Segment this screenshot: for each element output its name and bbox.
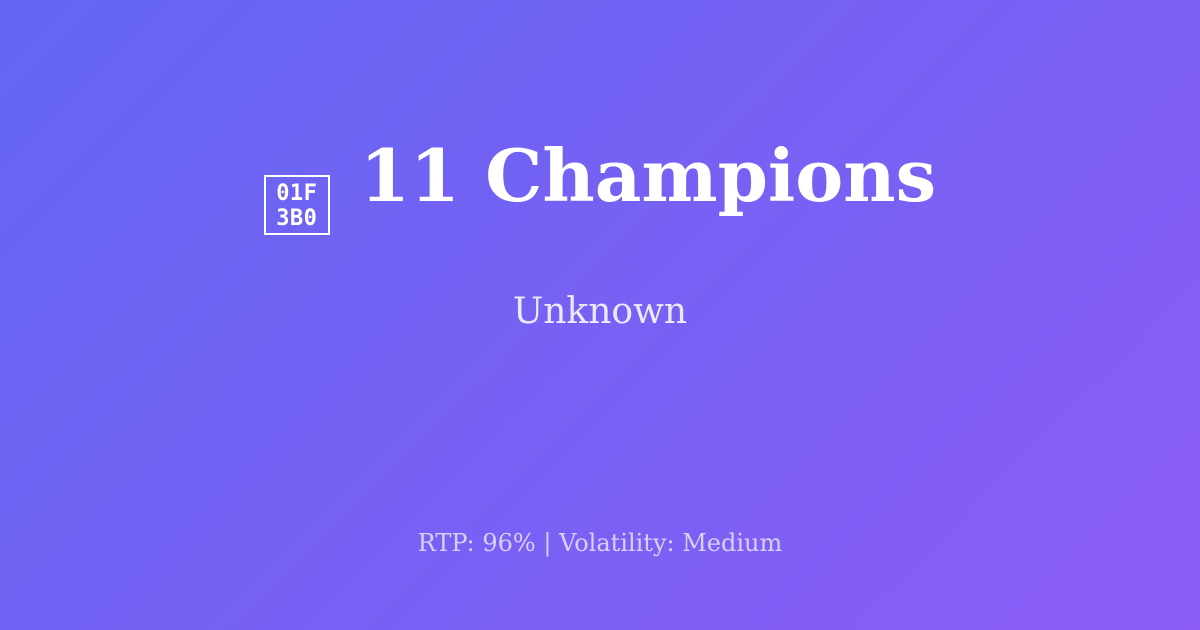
page-title: 11 Champions [360, 140, 936, 212]
tofu-codepoint-row-bottom: 3B0 [276, 206, 317, 231]
slot-machine-icon: 01F 3B0 [264, 175, 330, 235]
game-provider-subtitle: Unknown [513, 294, 687, 330]
game-og-card: 01F 3B0 11 Champions Unknown RTP: 96% | … [0, 0, 1200, 630]
tofu-codepoint-row-top: 01F [276, 181, 317, 206]
hero-block: 01F 3B0 11 Champions Unknown [0, 0, 1200, 470]
title-row: 01F 3B0 11 Champions [264, 140, 936, 237]
game-meta-line: RTP: 96% | Volatility: Medium [0, 528, 1200, 558]
